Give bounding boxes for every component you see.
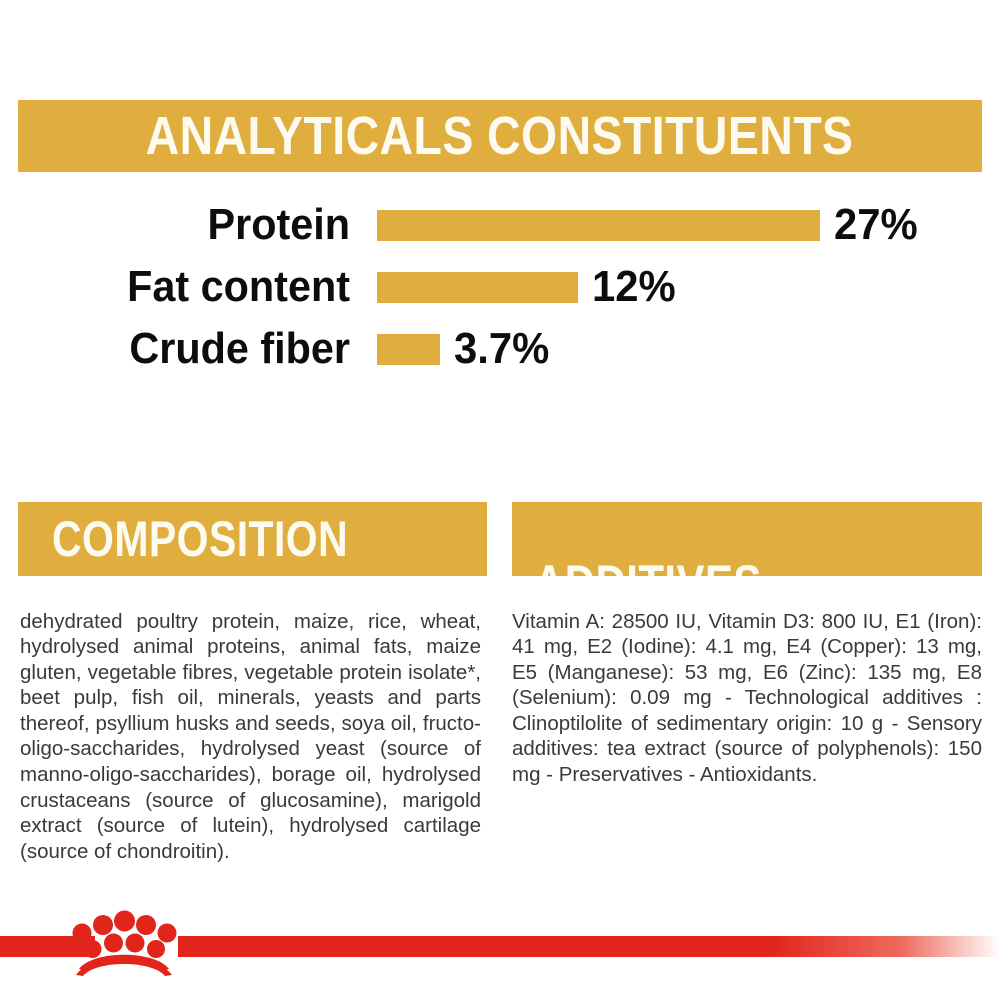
bar-label-crude-fiber: Crude fiber [21, 327, 350, 371]
bar-track-fat-content: 12% [377, 265, 680, 309]
bar-fill-fat-content [377, 272, 578, 303]
bar-value-fat-content: 12% [592, 265, 676, 309]
bar-value-crude-fiber: 3.7% [454, 327, 549, 371]
nutrition-panel: ANALYTICALS CONSTITUENTS Protein 27% Fat… [0, 0, 1000, 1000]
bar-fill-crude-fiber [377, 334, 440, 365]
additives-header-band: ADDITIVES (per kg) [512, 502, 982, 576]
bar-track-crude-fiber: 3.7% [377, 327, 554, 371]
bar-track-protein: 27% [377, 203, 922, 247]
brand-rule-right-segment [178, 936, 1000, 957]
additives-text: Vitamin A: 28500 IU, Vitamin D3: 800 IU,… [512, 609, 982, 788]
bar-fill-protein [377, 210, 820, 241]
additives-heading: ADDITIVES [534, 554, 762, 576]
composition-header-band: COMPOSITION [18, 502, 487, 576]
bar-row: Protein 27% [0, 196, 1000, 254]
additives-heading-row: ADDITIVES (per kg) [534, 502, 852, 576]
composition-text: dehydrated poultry protein, maize, rice,… [20, 609, 481, 865]
bar-row: Fat content 12% [0, 258, 1000, 316]
bar-label-protein: Protein [21, 203, 350, 247]
analyticals-bar-chart: Protein 27% Fat content 12% Crude fiber … [0, 196, 1000, 386]
royal-canin-crown-icon [68, 905, 180, 977]
composition-heading: COMPOSITION [52, 510, 348, 568]
analyticals-header-band: ANALYTICALS CONSTITUENTS [18, 100, 982, 172]
analyticals-heading: ANALYTICALS CONSTITUENTS [146, 105, 854, 167]
bar-row: Crude fiber 3.7% [0, 320, 1000, 378]
bar-label-fat-content: Fat content [21, 265, 350, 309]
bar-value-protein: 27% [834, 203, 918, 247]
